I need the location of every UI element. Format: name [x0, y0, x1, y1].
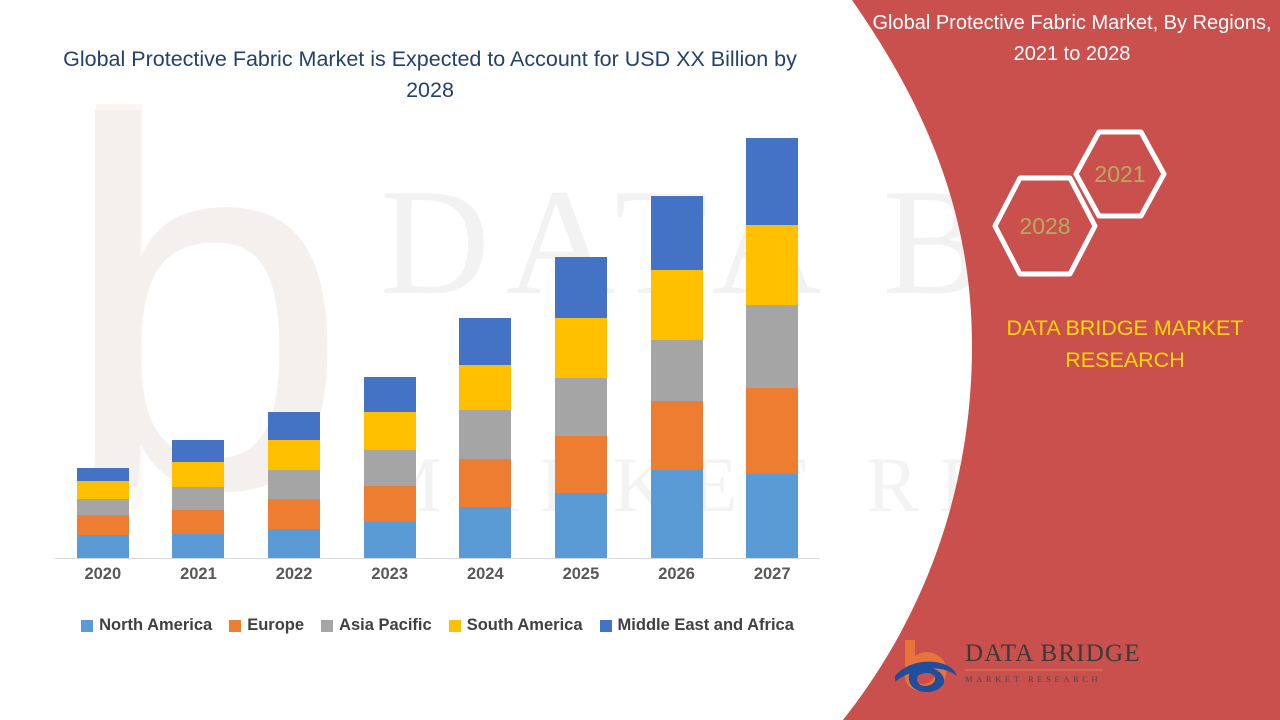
x-axis-label: 2021: [151, 565, 247, 584]
bar-segment: [746, 388, 798, 474]
bar-column: [151, 130, 247, 558]
bar-segment: [459, 318, 511, 365]
chart-axis-line: [55, 558, 820, 559]
bar-segment: [77, 499, 129, 515]
bar-segment: [746, 474, 798, 558]
bar-segment: [746, 138, 798, 225]
chart-title: Global Protective Fabric Market is Expec…: [60, 44, 800, 106]
bar-segment: [268, 470, 320, 499]
bar-column: [724, 130, 820, 558]
bar-segment: [77, 515, 129, 535]
bar-column: [533, 130, 629, 558]
x-axis-label: 2026: [629, 565, 725, 584]
hexagon-2021: 2021: [1072, 128, 1168, 220]
bar-segment: [364, 486, 416, 522]
bar-segment: [364, 377, 416, 412]
legend-item[interactable]: Asia Pacific: [321, 616, 432, 635]
bar-stack: [268, 412, 320, 558]
x-axis-label: 2024: [438, 565, 534, 584]
bar-segment: [555, 493, 607, 558]
x-axis-label: 2020: [55, 565, 151, 584]
bar-segment: [77, 535, 129, 558]
infographic-slide: b DATA BRIDGE MARKET RESEARCH Global Pro…: [0, 0, 1280, 720]
legend-label: Europe: [247, 616, 304, 635]
legend-item[interactable]: South America: [449, 616, 583, 635]
legend-swatch-icon: [229, 620, 241, 632]
x-axis-label: 2027: [724, 565, 820, 584]
legend-item[interactable]: North America: [81, 616, 212, 635]
legend-swatch-icon: [321, 620, 333, 632]
bar-segment: [459, 507, 511, 558]
bar-segment: [268, 412, 320, 440]
bar-segment: [651, 340, 703, 402]
bar-stack: [459, 318, 511, 558]
hexagon-group: 2028 2021: [980, 128, 1180, 273]
legend-swatch-icon: [600, 620, 612, 632]
legend-swatch-icon: [81, 620, 93, 632]
legend-item[interactable]: Europe: [229, 616, 304, 635]
bar-segment: [172, 510, 224, 535]
bar-column: [438, 130, 534, 558]
bar-segment: [746, 305, 798, 388]
logo-name: DATA BRIDGE: [965, 640, 1105, 668]
bar-segment: [172, 534, 224, 558]
bar-segment: [651, 401, 703, 470]
legend-label: Asia Pacific: [339, 616, 432, 635]
bar-segment: [651, 196, 703, 269]
bar-segment: [555, 257, 607, 318]
bar-segment: [77, 468, 129, 482]
bar-segment: [746, 225, 798, 305]
panel-title: Global Protective Fabric Market, By Regi…: [872, 8, 1272, 70]
bar-segment: [268, 440, 320, 470]
bar-segment: [459, 410, 511, 458]
bar-column: [629, 130, 725, 558]
bar-segment: [268, 529, 320, 558]
bar-column: [246, 130, 342, 558]
logo-mark-icon: [893, 636, 963, 694]
bar-segment: [268, 499, 320, 528]
hexagon-2028-label: 2028: [1019, 213, 1070, 240]
bar-segment: [172, 462, 224, 487]
legend-label: Middle East and Africa: [618, 616, 794, 635]
bar-column: [55, 130, 151, 558]
bar-stack: [77, 468, 129, 558]
legend-swatch-icon: [449, 620, 461, 632]
bar-segment: [555, 318, 607, 378]
hexagon-2021-label: 2021: [1094, 161, 1145, 188]
bar-stack: [746, 138, 798, 558]
bar-segment: [77, 481, 129, 499]
bar-segment: [364, 412, 416, 450]
legend-label: South America: [467, 616, 583, 635]
bar-segment: [172, 487, 224, 510]
chart-legend: North AmericaEuropeAsia PacificSouth Ame…: [55, 616, 820, 635]
x-axis-label: 2023: [342, 565, 438, 584]
bar-segment: [172, 440, 224, 463]
logo-divider: [965, 669, 1103, 671]
logo-tagline: MARKET RESEARCH: [965, 674, 1105, 684]
legend-label: North America: [99, 616, 212, 635]
logo-wordmark: DATA BRIDGE MARKET RESEARCH: [965, 640, 1105, 684]
x-axis-label: 2025: [533, 565, 629, 584]
bar-segment: [555, 378, 607, 437]
bar-stack: [651, 196, 703, 558]
bar-segment: [555, 436, 607, 492]
legend-item[interactable]: Middle East and Africa: [600, 616, 794, 635]
bar-segment: [364, 450, 416, 486]
bar-stack: [364, 377, 416, 558]
bar-stack: [172, 440, 224, 558]
bar-stack: [555, 257, 607, 558]
chart-bars: [55, 130, 820, 558]
panel-brand-text: DATA BRIDGE MARKET RESEARCH: [955, 312, 1280, 376]
chart-x-axis-labels: 20202021202220232024202520262027: [55, 565, 820, 584]
bar-segment: [459, 459, 511, 507]
data-bridge-logo: DATA BRIDGE MARKET RESEARCH: [893, 636, 1103, 698]
bar-segment: [364, 522, 416, 558]
bar-column: [342, 130, 438, 558]
bar-segment: [651, 270, 703, 340]
bar-segment: [651, 470, 703, 558]
bar-segment: [459, 365, 511, 410]
x-axis-label: 2022: [246, 565, 342, 584]
